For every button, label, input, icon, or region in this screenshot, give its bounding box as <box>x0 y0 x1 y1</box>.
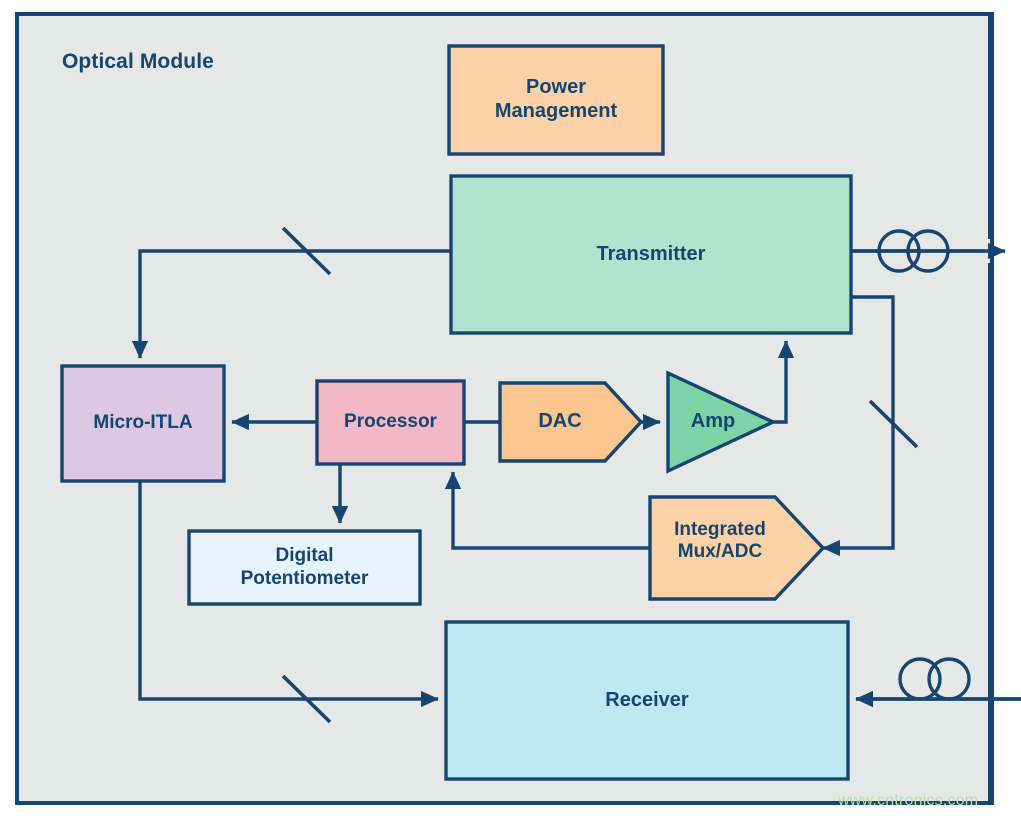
diagram-canvas: Optical Module Power Management Transmit… <box>0 0 1021 821</box>
watermark: www.cntronics.com <box>838 792 978 810</box>
block-transmitter[interactable] <box>451 176 851 333</box>
optical-module-block-diagram <box>0 0 1021 821</box>
block-power-management[interactable] <box>449 46 663 154</box>
block-micro-itla[interactable] <box>62 366 224 481</box>
block-processor[interactable] <box>317 381 464 464</box>
block-receiver[interactable] <box>446 622 848 779</box>
block-digital-potentiometer[interactable] <box>189 531 420 604</box>
